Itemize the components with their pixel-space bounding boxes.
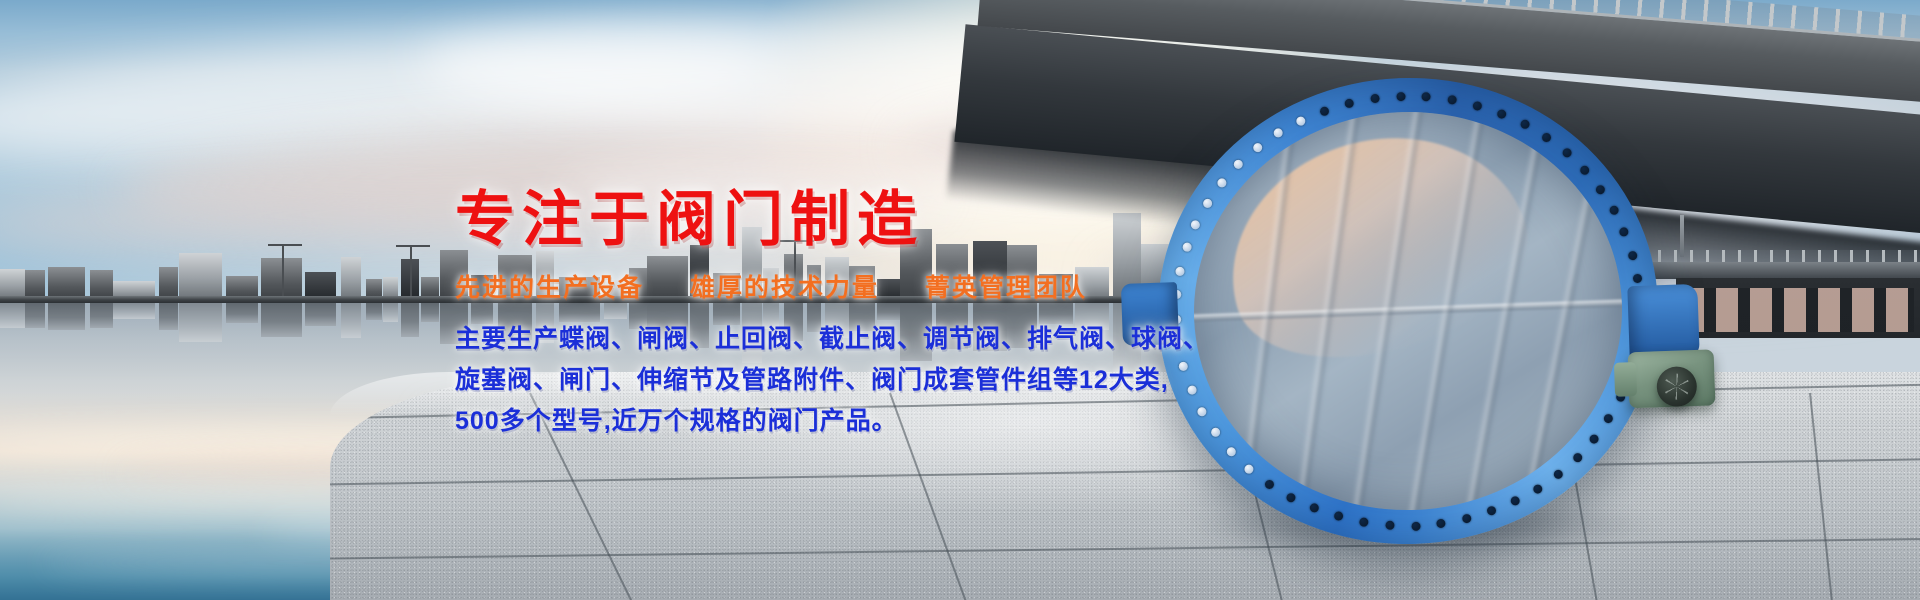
valve-bolt-hole	[1344, 99, 1353, 108]
skyline-building	[179, 253, 222, 300]
valve-bolt-hole	[1620, 228, 1629, 237]
valve-bolt-hole	[1274, 129, 1283, 138]
skyline-building-reflection	[159, 303, 178, 330]
valve-bolt-hole	[1609, 206, 1618, 215]
valve-bolt-hole	[1633, 274, 1642, 283]
skyline-building-reflection	[383, 303, 398, 322]
skyline-building-reflection	[421, 303, 439, 322]
skyline-building-reflection	[179, 303, 222, 342]
valve-bolt-hole	[1554, 469, 1563, 478]
construction-crane	[410, 245, 412, 300]
skyline-building-reflection	[48, 303, 85, 330]
description-line-3: 500多个型号,近万个规格的阀门产品。	[455, 401, 1355, 442]
subtitle-item-2: 雄厚的技术力量	[690, 274, 879, 302]
skyline-building-reflection	[401, 303, 419, 337]
skyline-building-reflection	[305, 303, 336, 326]
valve-bolt-hole	[1309, 503, 1318, 512]
subtitle-item-1: 先进的生产设备	[455, 274, 644, 302]
valve-bolt-hole	[1511, 496, 1520, 505]
valve-bolt-hole	[1253, 143, 1262, 152]
valve-bolt-hole	[1589, 434, 1598, 443]
valve-bolt-hole	[1497, 109, 1506, 118]
valve-bolt-hole	[1227, 447, 1236, 456]
description-line-1: 主要生产蝶阀、闸阀、止回阀、截止阀、调节阀、排气阀、球阀、	[455, 319, 1355, 360]
valve-bolt-hole	[1573, 453, 1582, 462]
skyline-building-reflection	[366, 303, 382, 320]
valve-bolt-hole	[1562, 149, 1571, 158]
skyline-building-reflection	[0, 303, 25, 328]
valve-bolt-hole	[1422, 92, 1431, 101]
valve-bolt-hole	[1411, 521, 1420, 530]
valve-bolt-hole	[1234, 160, 1243, 169]
hero-banner: 专注于阀门制造 先进的生产设备 雄厚的技术力量 菁英管理团队 主要生产蝶阀、闸阀…	[0, 0, 1920, 600]
skyline-building-reflection	[226, 303, 258, 323]
valve-bolt-hole	[1370, 94, 1379, 103]
valve-bolt-hole	[1520, 120, 1529, 129]
valve-bolt-hole	[1437, 519, 1446, 528]
banner-copy: 专注于阀门制造 先进的生产设备 雄厚的技术力量 菁英管理团队 主要生产蝶阀、闸阀…	[455, 190, 1355, 442]
banner-description: 主要生产蝶阀、闸阀、止回阀、截止阀、调节阀、排气阀、球阀、 旋塞阀、闸门、伸缩节…	[455, 319, 1355, 442]
valve-bolt-hole	[1334, 512, 1343, 521]
far-building	[1676, 278, 1920, 338]
skyline-building-reflection	[113, 303, 155, 319]
valve-bolt-hole	[1320, 106, 1329, 115]
pavement-joint	[330, 537, 1920, 560]
pavement-joint	[1809, 393, 1838, 600]
skyline-building-reflection	[25, 303, 45, 328]
subtitle-item-3: 菁英管理团队	[925, 274, 1087, 302]
skyline-building-reflection	[90, 303, 113, 328]
valve-bolt-hole	[1265, 479, 1274, 488]
construction-crane	[282, 244, 284, 300]
skyline-building-reflection	[261, 303, 302, 337]
valve-bolt-hole	[1359, 518, 1368, 527]
valve-bolt-hole	[1628, 251, 1637, 260]
valve-bolt-hole	[1286, 493, 1295, 502]
valve-bolt-hole	[1396, 91, 1405, 100]
valve-right-trunnion	[1627, 284, 1700, 360]
valve-bolt-hole	[1448, 95, 1457, 104]
valve-bolt-hole	[1604, 414, 1613, 423]
skyline-building-reflection	[341, 303, 361, 338]
valve-bolt-hole	[1385, 521, 1394, 530]
skyline-building	[341, 257, 361, 300]
banner-headline: 专注于阀门制造	[455, 190, 1355, 250]
banner-subtitle: 先进的生产设备 雄厚的技术力量 菁英管理团队	[455, 276, 1355, 301]
description-line-2: 旋塞阀、闸门、伸缩节及管路附件、阀门成套管件组等12大类,	[455, 360, 1355, 401]
valve-bolt-hole	[1217, 179, 1226, 188]
valve-bolt-hole	[1462, 514, 1471, 523]
valve-bolt-hole	[1487, 506, 1496, 515]
